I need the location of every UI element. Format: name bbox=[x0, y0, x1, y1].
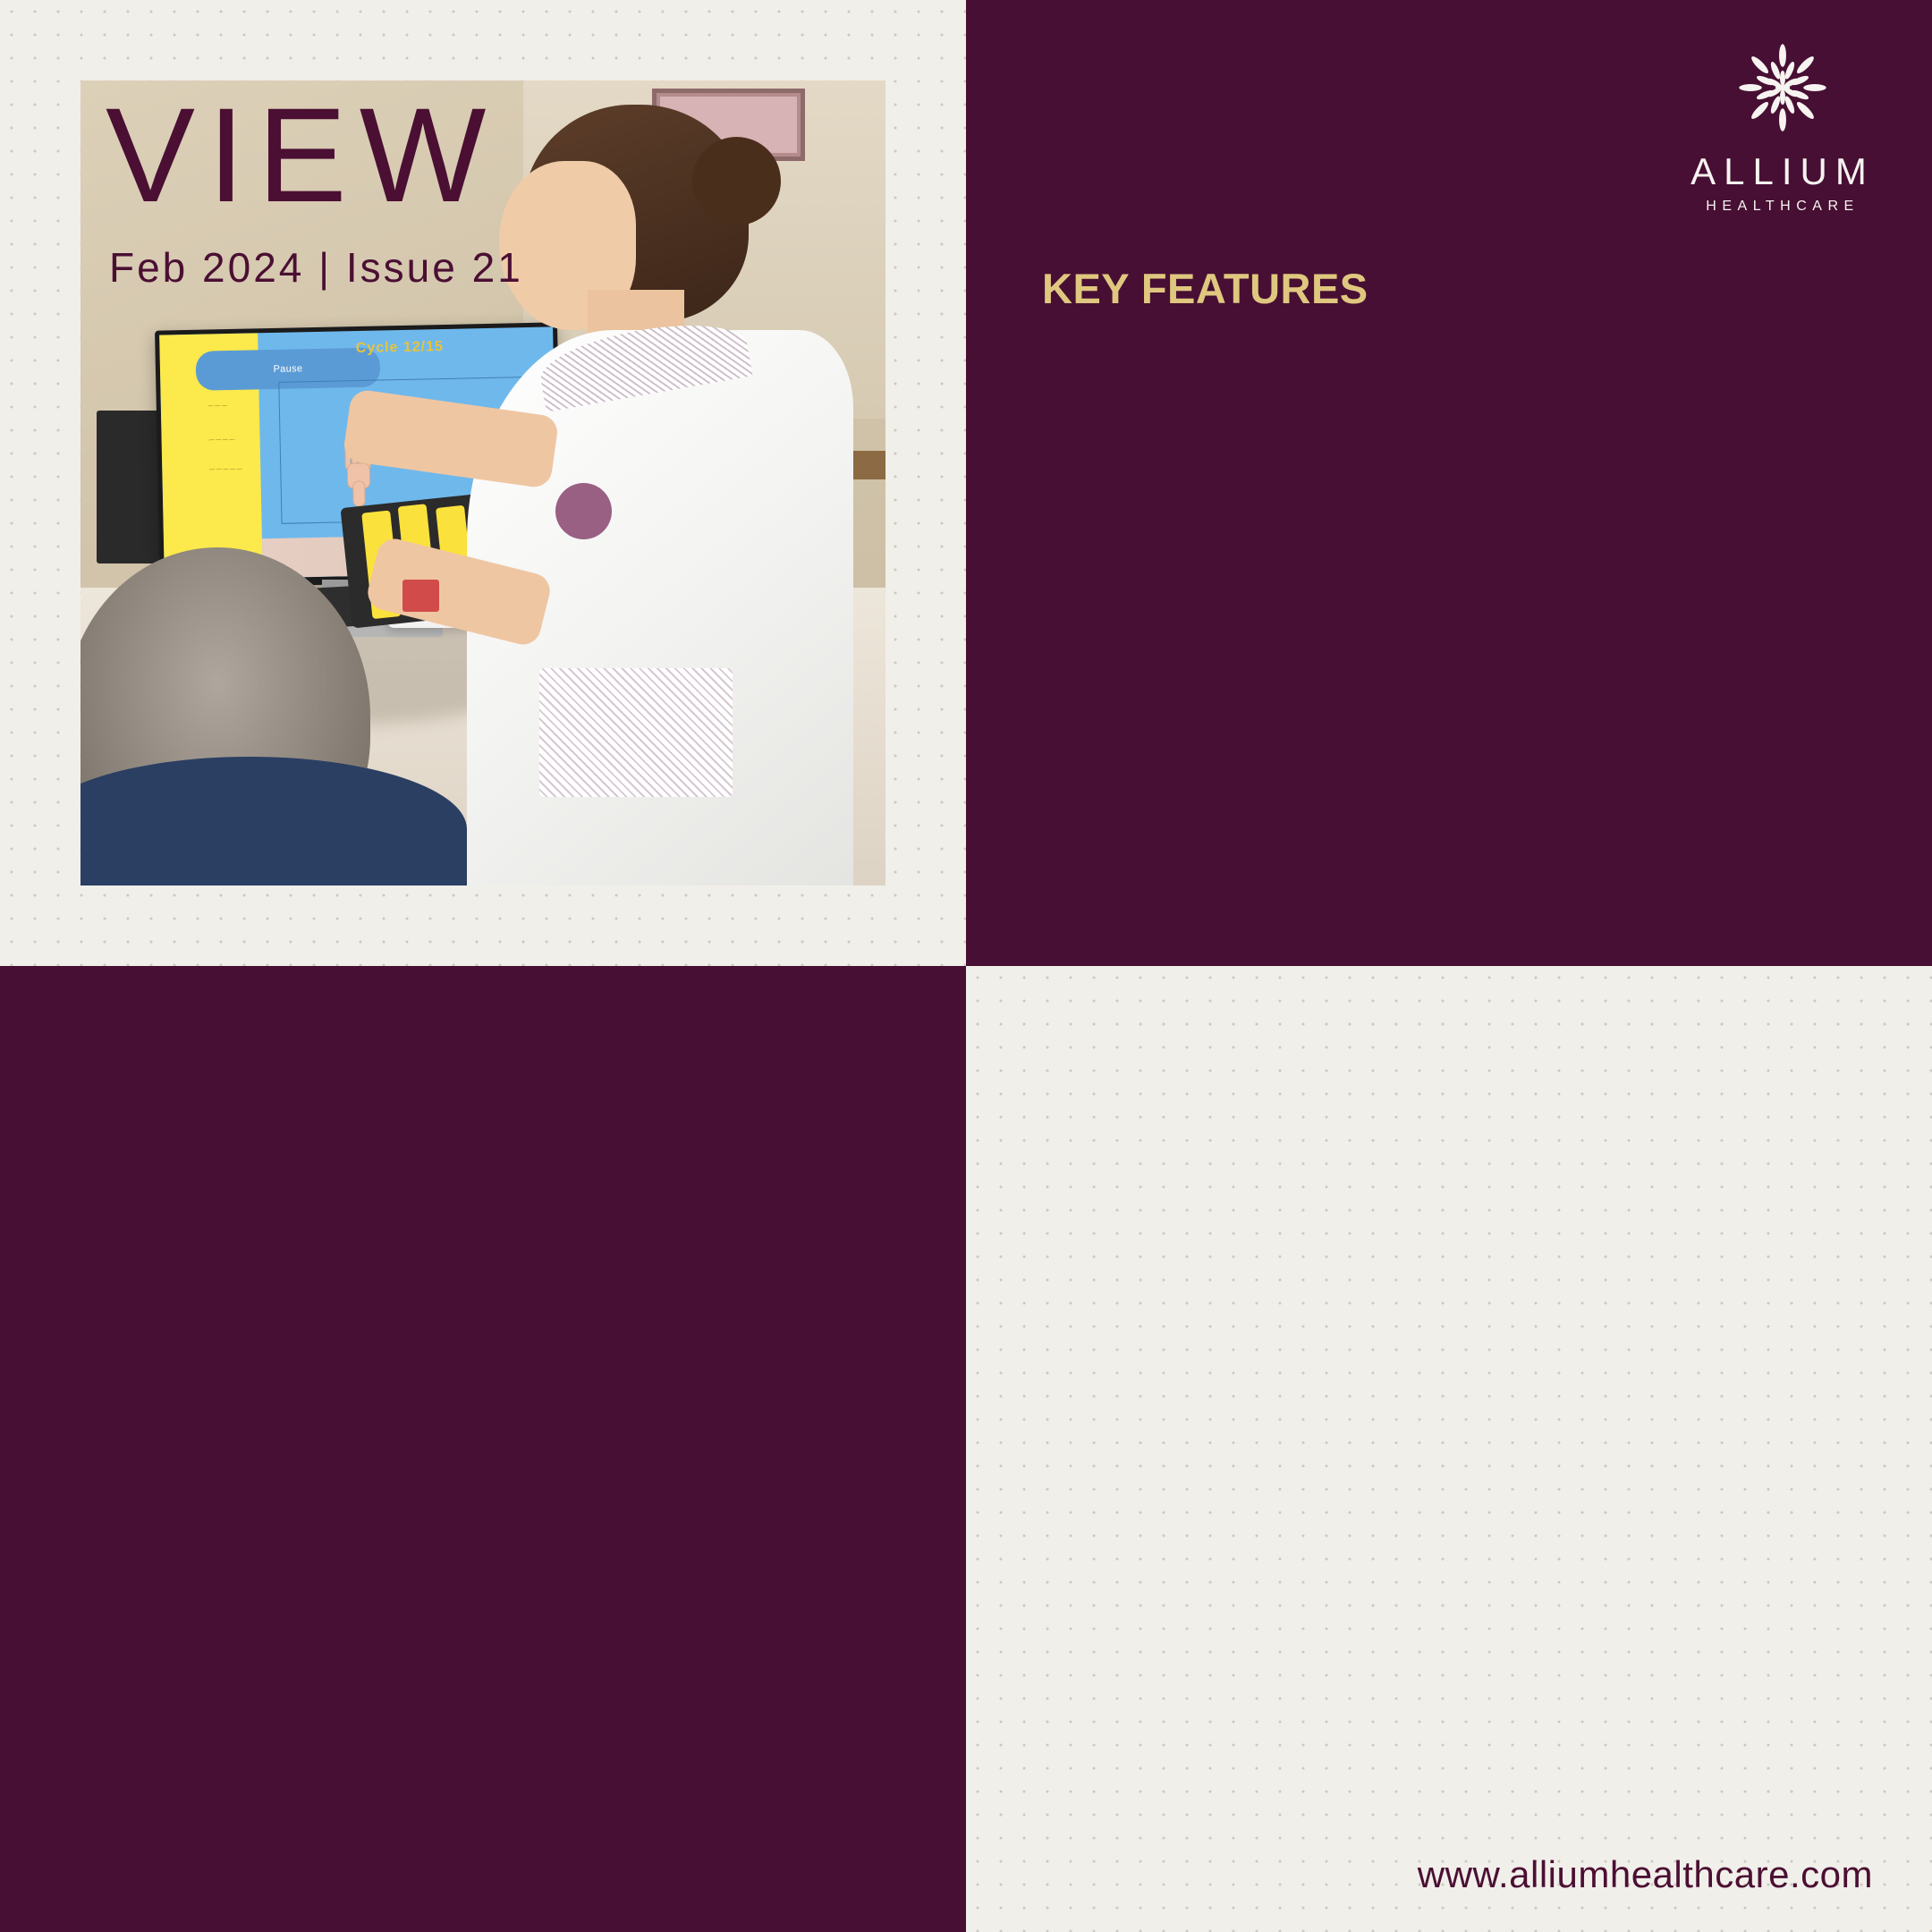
cover-photo: Pause — — — — — — — — — — — — Cycle 12/1… bbox=[80, 80, 885, 885]
allium-flower-icon bbox=[1731, 36, 1835, 140]
quadrant-targeted-conditions: TARGETED CONDITIONS Stroke Traumatic Bra… bbox=[0, 966, 966, 1932]
page-title: VIEW bbox=[106, 88, 498, 222]
website-url[interactable]: www.alliumhealthcare.com bbox=[1418, 1853, 1873, 1896]
quadrant-key-features: ALLIUM HEALTHCARE KEY FEATURES Functiona… bbox=[966, 0, 1932, 966]
newsletter-page: Pause — — — — — — — — — — — — Cycle 12/1… bbox=[0, 0, 1932, 1932]
quadrant-clinic-photo: EXERCISE IN PROGRESS ROCESO TECHNOLOGIES… bbox=[966, 966, 1932, 1932]
brand-name: ALLIUM bbox=[1689, 153, 1877, 191]
quadrant-cover: Pause — — — — — — — — — — — — Cycle 12/1… bbox=[0, 0, 966, 966]
key-features-heading: KEY FEATURES bbox=[1042, 264, 1368, 313]
cycle-counter: Cycle 12/15 bbox=[269, 336, 530, 358]
brand-logo: ALLIUM HEALTHCARE bbox=[1689, 36, 1877, 215]
issue-line: Feb 2024 | Issue 21 bbox=[109, 243, 523, 292]
brand-tagline: HEALTHCARE bbox=[1689, 199, 1877, 215]
paper-texture bbox=[966, 966, 1932, 1932]
